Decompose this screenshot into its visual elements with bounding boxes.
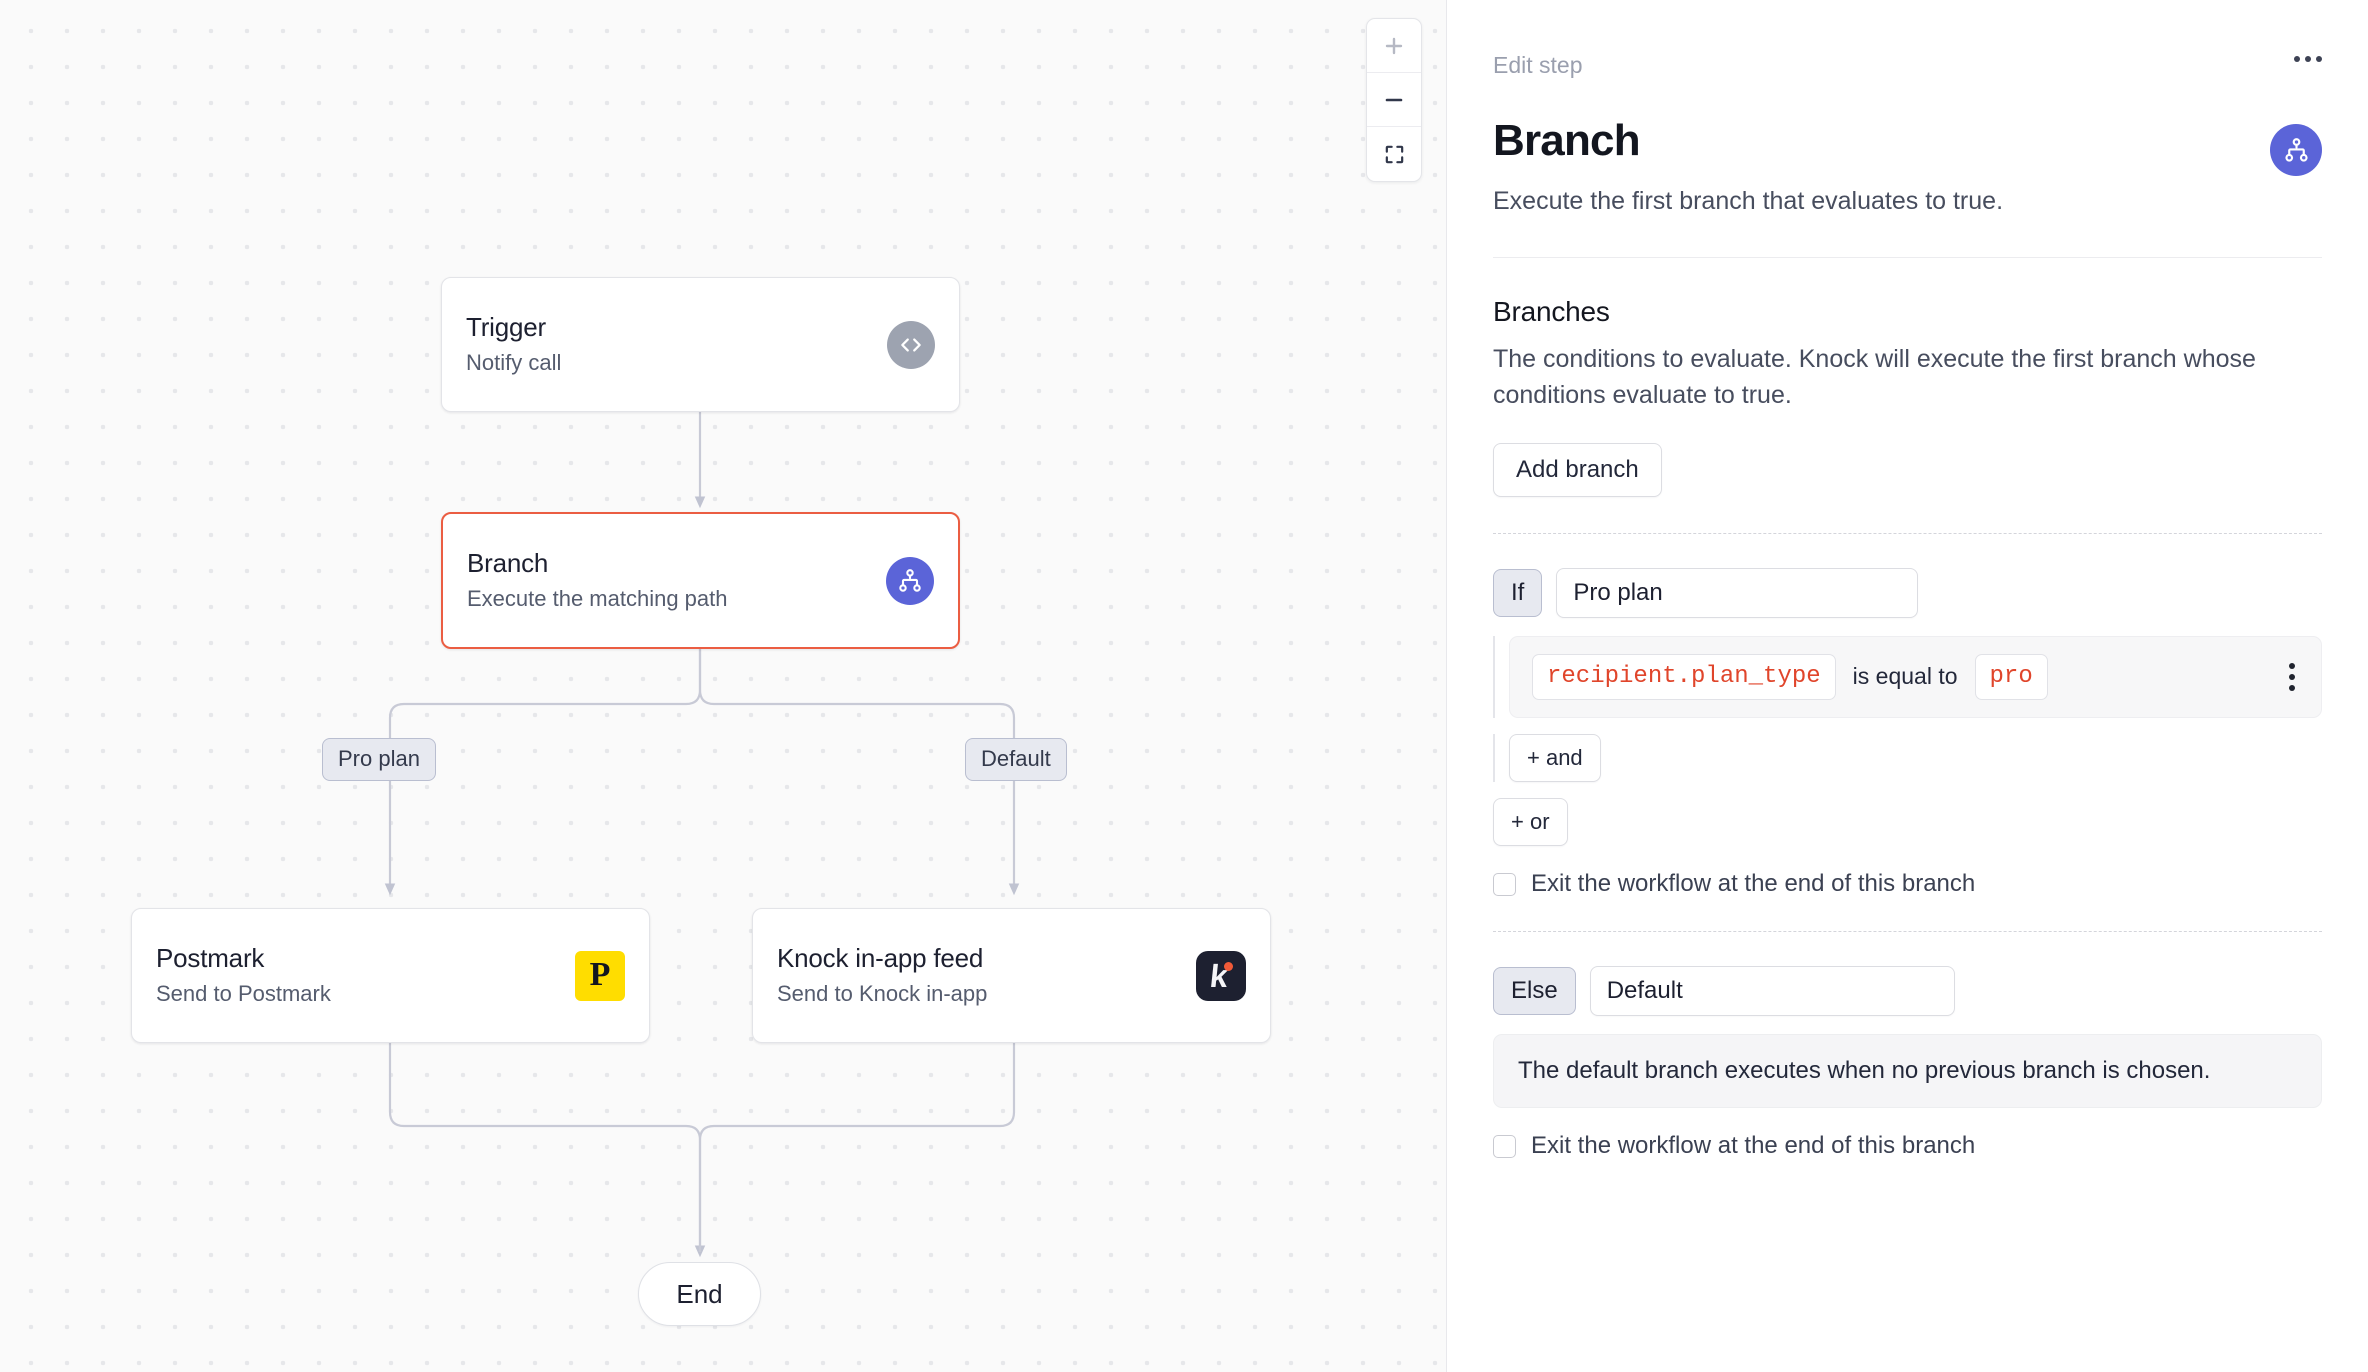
exit-workflow-checkbox[interactable] (1493, 873, 1516, 896)
node-text: Branch Execute the matching path (467, 548, 868, 613)
condition-value-input[interactable]: pro (1975, 654, 2048, 700)
workflow-editor: Trigger Notify call Branch Execute the m… (0, 0, 2368, 1372)
add-branch-button[interactable]: Add branch (1493, 443, 1662, 497)
workflow-node-branch[interactable]: Branch Execute the matching path (441, 512, 960, 649)
node-text: Knock in-app feed Send to Knock in-app (777, 943, 1178, 1008)
branch-if-exit-row: Exit the workflow at the end of this bra… (1493, 872, 2322, 896)
workflow-canvas[interactable]: Trigger Notify call Branch Execute the m… (0, 0, 1447, 1372)
node-icon (886, 557, 934, 605)
exit-workflow-label: Exit the workflow at the end of this bra… (1531, 1134, 1975, 1158)
workflow-edges (0, 0, 1447, 1372)
branch-else-name-input[interactable]: Default (1590, 966, 1955, 1016)
branches-heading: Branches (1493, 296, 2322, 328)
exit-workflow-checkbox[interactable] (1493, 1135, 1516, 1158)
exit-workflow-label: Exit the workflow at the end of this bra… (1531, 872, 1975, 896)
node-icon (887, 321, 935, 369)
minus-icon (1382, 88, 1406, 112)
condition-operator[interactable]: is equal to (1853, 663, 1958, 690)
branch-else: Else Default The default branch executes… (1493, 966, 2322, 1158)
postmark-stamp-icon: P (575, 951, 625, 1001)
condition-row: recipient.plan_type is equal to pro (1509, 636, 2322, 718)
condition-options-icon[interactable] (2285, 659, 2299, 695)
edge-label-pro-plan[interactable]: Pro plan (322, 738, 436, 781)
zoom-out-button[interactable] (1367, 73, 1421, 127)
branch-divider-top (1493, 533, 2322, 534)
knock-accent-dot (1224, 962, 1233, 971)
branch-else-exit-row: Exit the workflow at the end of this bra… (1493, 1134, 2322, 1158)
node-icon: P (575, 951, 625, 1001)
page-title: Branch (1493, 119, 2003, 163)
branch-else-info: The default branch executes when no prev… (1493, 1034, 2322, 1108)
zoom-controls (1366, 18, 1422, 182)
branch-if-conditions: recipient.plan_type is equal to pro (1493, 636, 2322, 718)
branch-icon (2270, 124, 2322, 176)
end-node-label: End (676, 1279, 722, 1310)
node-subtitle: Notify call (466, 350, 869, 376)
node-title: Trigger (466, 312, 869, 343)
workflow-node-trigger[interactable]: Trigger Notify call (441, 277, 960, 412)
node-subtitle: Execute the matching path (467, 586, 868, 612)
panel-title-row: Branch Execute the first branch that eva… (1493, 119, 2322, 217)
node-subtitle: Send to Knock in-app (777, 981, 1178, 1007)
workflow-node-end[interactable]: End (638, 1262, 761, 1326)
add-and-wrapper: + and (1493, 734, 2322, 782)
workflow-node-postmark[interactable]: Postmark Send to Postmark P (131, 908, 650, 1043)
divider (1493, 257, 2322, 258)
node-title: Postmark (156, 943, 557, 974)
branch-if-tag[interactable]: If (1493, 569, 1542, 617)
node-subtitle: Send to Postmark (156, 981, 557, 1007)
panel-header: Edit step (1493, 48, 2322, 77)
node-text: Trigger Notify call (466, 312, 869, 377)
branch-else-header: Else Default (1493, 966, 2322, 1016)
postmark-letter: P (590, 958, 611, 992)
fit-view-button[interactable] (1367, 127, 1421, 181)
branches-section: Branches The conditions to evaluate. Kno… (1493, 296, 2322, 497)
condition-variable-input[interactable]: recipient.plan_type (1532, 654, 1836, 700)
zoom-in-button[interactable] (1367, 19, 1421, 73)
edit-step-panel: Edit step Branch Execute the first branc… (1447, 0, 2368, 1372)
knock-logo-icon: k (1196, 951, 1246, 1001)
add-or-button[interactable]: + or (1493, 798, 1568, 846)
node-title: Knock in-app feed (777, 943, 1178, 974)
branches-description: The conditions to evaluate. Knock will e… (1493, 342, 2322, 414)
plus-icon (1382, 34, 1406, 58)
branch-divider-bottom (1493, 931, 2322, 932)
branch-else-tag[interactable]: Else (1493, 967, 1576, 1015)
node-icon: k (1196, 951, 1246, 1001)
node-text: Postmark Send to Postmark (156, 943, 557, 1008)
add-or-wrapper: + or (1493, 798, 2322, 846)
code-brackets-icon (887, 321, 935, 369)
more-options-icon[interactable] (2294, 48, 2322, 62)
page-description: Execute the first branch that evaluates … (1493, 186, 2003, 217)
add-and-button[interactable]: + and (1509, 734, 1601, 782)
panel-eyebrow: Edit step (1493, 48, 1583, 77)
branch-if-name-input[interactable]: Pro plan (1556, 568, 1918, 618)
fit-view-icon (1383, 143, 1406, 166)
node-title: Branch (467, 548, 868, 579)
edge-label-default[interactable]: Default (965, 738, 1067, 781)
branch-if-header: If Pro plan (1493, 568, 2322, 618)
branch-icon (886, 557, 934, 605)
workflow-node-knock-in-app-feed[interactable]: Knock in-app feed Send to Knock in-app k (752, 908, 1271, 1043)
panel-step-icon (2270, 124, 2322, 176)
branch-if: If Pro plan recipient.plan_type is equal… (1493, 568, 2322, 896)
